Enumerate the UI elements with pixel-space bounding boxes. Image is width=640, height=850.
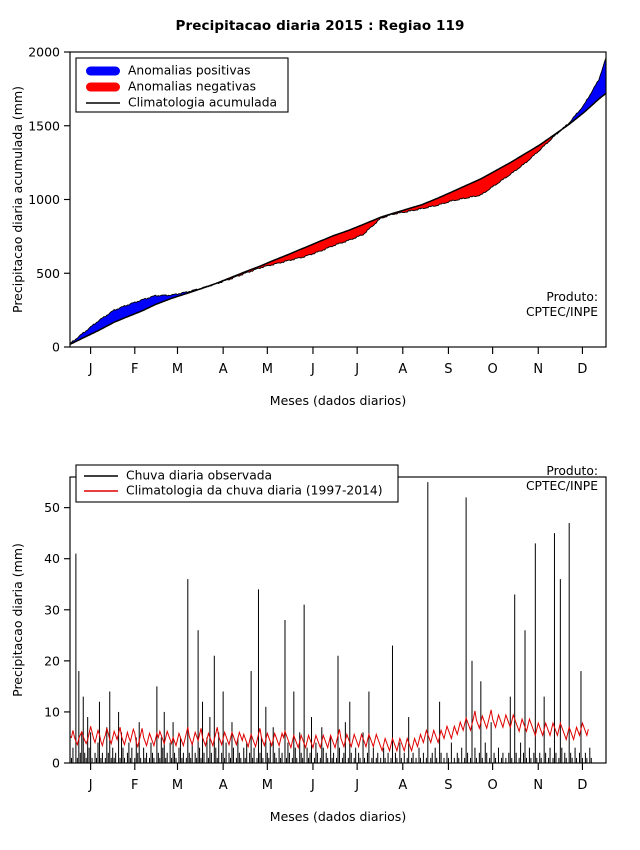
x-tick-label-J: J — [310, 778, 315, 793]
x-tick-label-S: S — [444, 778, 452, 793]
accumulated-chart-svg: 0500100015002000JFMAMJJASONDMeses (dados… — [0, 40, 640, 430]
legend-label-0: Anomalias positivas — [128, 64, 251, 78]
x-tick-label-D: D — [577, 362, 587, 377]
y-tick-label: 2000 — [28, 45, 60, 60]
y-tick-label: 0 — [52, 756, 60, 771]
figure-root: Precipitacao diaria 2015 : Regiao 119 05… — [0, 0, 640, 850]
x-tick-label-O: O — [487, 778, 497, 793]
x-tick-label-M: M — [262, 778, 273, 793]
figure-title: Precipitacao diaria 2015 : Regiao 119 — [0, 18, 640, 34]
x-tick-label-N: N — [533, 778, 543, 793]
negative-anomaly-area — [217, 129, 562, 283]
x-tick-label-J: J — [88, 778, 93, 793]
y-tick-label: 500 — [36, 266, 60, 281]
x-tick-label-D: D — [577, 778, 587, 793]
x-tick-label-F: F — [131, 778, 138, 793]
y-tick-label: 30 — [44, 602, 60, 617]
daily-precipitation-chart: 01020304050JFMAMJJASONDMeses (dados diar… — [0, 455, 640, 850]
observed-spikes — [70, 482, 591, 763]
daily-chart-svg: 01020304050JFMAMJJASONDMeses (dados diar… — [0, 455, 640, 850]
x-tick-label-S: S — [444, 362, 452, 377]
x-tick-label-J: J — [88, 362, 93, 377]
legend-swatch-0 — [86, 67, 120, 76]
accumulated-precipitation-chart: 0500100015002000JFMAMJJASONDMeses (dados… — [0, 40, 640, 430]
x-tick-label-O: O — [487, 362, 497, 377]
y-tick-label: 1500 — [28, 118, 60, 133]
x-tick-label-J: J — [354, 778, 359, 793]
y-axis-title: Precipitacao diaria acumulada (mm) — [10, 86, 25, 313]
y-tick-label: 50 — [44, 500, 60, 515]
x-tick-label-A: A — [398, 778, 407, 793]
x-axis-title: Meses (dados diarios) — [270, 393, 406, 408]
legend-swatch-1 — [86, 83, 120, 92]
y-tick-label: 40 — [44, 551, 60, 566]
x-tick-label-A: A — [219, 362, 228, 377]
x-tick-label-M: M — [262, 362, 273, 377]
y-tick-label: 20 — [44, 653, 60, 668]
y-tick-label: 10 — [44, 704, 60, 719]
watermark-line2: CPTEC/INPE — [526, 479, 598, 493]
x-axis-title: Meses (dados diarios) — [270, 809, 406, 824]
legend-label-1: Anomalias negativas — [128, 80, 256, 94]
watermark-line1: Produto: — [546, 464, 598, 478]
legend-label-0: Chuva diaria observada — [126, 469, 272, 483]
x-tick-label-M: M — [172, 778, 183, 793]
y-tick-label: 1000 — [28, 192, 60, 207]
y-tick-label: 0 — [52, 340, 60, 355]
y-axis-title: Precipitacao diaria (mm) — [10, 543, 25, 697]
x-tick-label-A: A — [219, 778, 228, 793]
watermark-line1: Produto: — [546, 290, 598, 304]
x-tick-label-J: J — [310, 362, 315, 377]
legend-label-2: Climatologia acumulada — [128, 96, 277, 110]
positive-anomaly-area — [563, 58, 606, 129]
positive-anomaly-area — [70, 289, 197, 344]
watermark-line2: CPTEC/INPE — [526, 305, 598, 319]
x-tick-label-A: A — [398, 362, 407, 377]
x-tick-label-N: N — [533, 362, 543, 377]
x-tick-label-F: F — [131, 362, 138, 377]
x-tick-label-M: M — [172, 362, 183, 377]
x-tick-label-J: J — [354, 362, 359, 377]
legend-label-1: Climatologia da chuva diaria (1997-2014) — [126, 484, 383, 498]
